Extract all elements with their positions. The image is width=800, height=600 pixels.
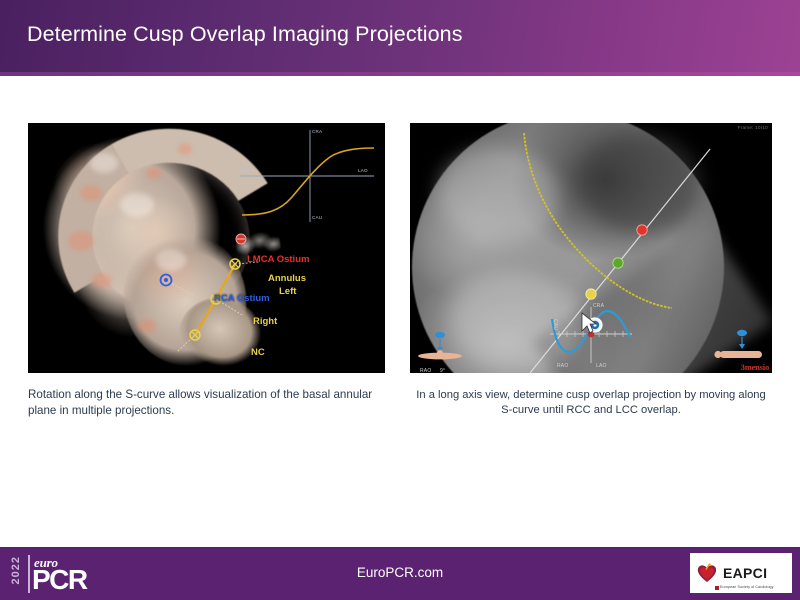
scurve-label-cra: CRA: [312, 129, 322, 134]
left-image-panel[interactable]: RAO LAO CRA CAU: [28, 123, 385, 373]
esc-logo-mark: [715, 586, 719, 590]
right-image-caption: In a long axis view, determine cusp over…: [410, 388, 772, 418]
scurve-control-widget: [550, 307, 632, 363]
widget-label-cau: CAU: [552, 319, 558, 330]
label-rca-ostium: RCA Ostium: [214, 293, 270, 304]
eapci-sublabel: European Society of Cardiology: [720, 585, 774, 589]
eapci-partner-badge: EAPCI European Society of Cardiology: [690, 553, 792, 593]
footer-website[interactable]: EuroPCR.com: [0, 565, 800, 580]
header-accent-stripe: [0, 72, 800, 76]
left-image-caption: Rotation along the S-curve allows visual…: [28, 387, 373, 418]
vendor-logo-3mensio: 3mensio: [741, 362, 769, 372]
red-marker: [637, 225, 647, 235]
projection-angle: 9°: [440, 368, 445, 373]
cusp-nadir-marker-nc: [190, 330, 200, 340]
scurve-graph-svg: [236, 127, 378, 225]
aortic-centerline-curve: [524, 133, 672, 308]
detector-icon: [737, 330, 747, 336]
detector-icon: [435, 332, 445, 338]
label-right-cusp: Right: [253, 316, 277, 327]
green-marker: [613, 258, 623, 268]
eapci-label: EAPCI: [723, 565, 767, 581]
yellow-marker: [586, 289, 596, 299]
cusp-nadir-marker-left: [230, 259, 240, 269]
label-left-cusp: Left: [279, 286, 296, 297]
scurve-label-cau: CAU: [312, 215, 322, 220]
projection-label: RAO: [420, 368, 431, 373]
label-lmca-ostium: LMCA Ostium: [247, 254, 309, 265]
patient-orientation-icon-left: [414, 329, 476, 369]
heart-icon: [695, 561, 719, 585]
patient-body-icon: [720, 351, 762, 358]
widget-label-lao: LAO: [596, 363, 607, 369]
scurve-path: [242, 148, 374, 215]
scurve-label-rao: RAO: [239, 168, 250, 173]
right-image-panel[interactable]: Frame: 10/10: [410, 123, 772, 373]
scurve-label-lao: LAO: [358, 168, 368, 173]
label-annulus: Annulus: [268, 273, 306, 284]
label-nc-cusp: NC: [251, 347, 265, 358]
page-title: Determine Cusp Overlap Imaging Projectio…: [27, 22, 463, 47]
widget-label-rao: RAO: [557, 363, 568, 369]
widget-label-cra: CRA: [593, 303, 604, 309]
scurve-graph-overlay: RAO LAO CRA CAU: [236, 127, 378, 225]
slide-footer-bar: 2022 euro PCR EuroPCR.com EAPCI European…: [0, 547, 800, 600]
